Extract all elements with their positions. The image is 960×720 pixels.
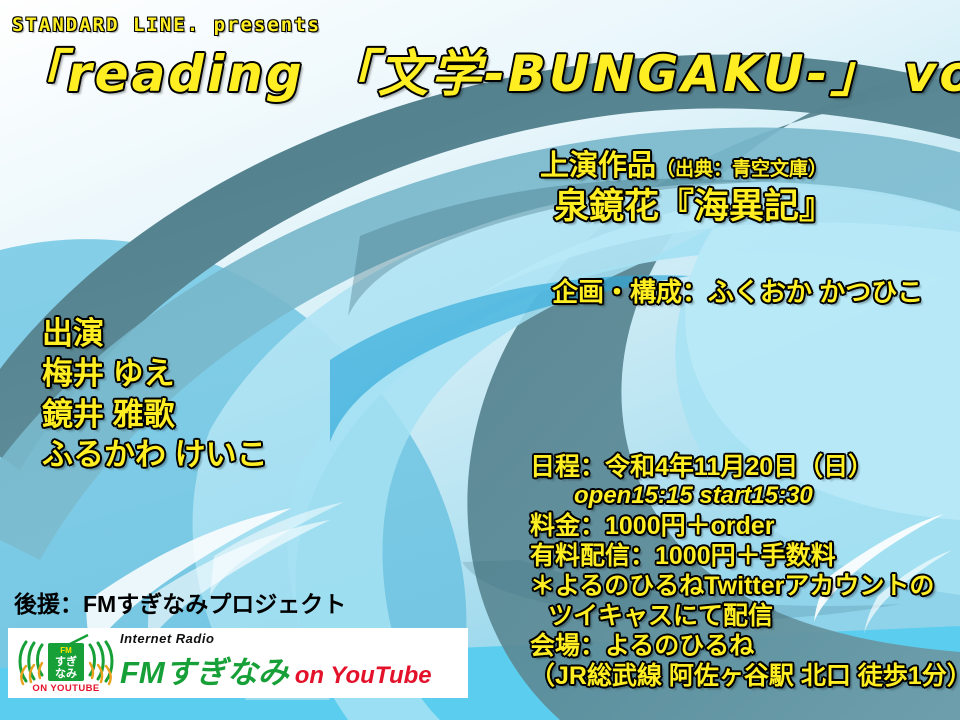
detail-line-price: 料金：1000円＋order — [530, 511, 960, 541]
event-details-block: 日程：令和4年11月20日（日） open15:15 start15:30 料金… — [530, 452, 960, 691]
logo-platform: on YouTube — [295, 662, 432, 689]
sponsor-label: 後援：FMすぎなみプロジェクト — [14, 585, 346, 619]
radio-icon-nami-text: なみ — [55, 667, 77, 680]
work-source: （出典：青空文庫） — [656, 159, 827, 180]
detail-line-date: 日程：令和4年11月20日（日） — [530, 452, 960, 482]
radio-icon-caption: ON YOUTUBE — [32, 683, 99, 693]
detail-line-times: open15:15 start15:30 — [574, 482, 960, 511]
poster-canvas: STANDARD LINE. presents 「reading 「文学-BUN… — [0, 0, 960, 720]
cast-member: 梅井 ゆえ — [42, 354, 268, 394]
detail-line-streaming-price: 有料配信：1000円＋手数料 — [530, 541, 960, 571]
radio-icon-sugi-text: すぎ — [55, 654, 77, 668]
detail-line-access: （JR総武線 阿佐ヶ谷駅 北口 徒歩1分） — [530, 661, 960, 691]
cast-member: ふるかわ けいこ — [42, 435, 268, 475]
cast-block: 出演 梅井 ゆえ 鏡井 雅歌 ふるかわ けいこ — [42, 314, 268, 475]
detail-line-venue: 会場：よるのひるね — [530, 631, 960, 661]
page-title: 「reading 「文学-BUNGAKU-」 vol、88」 — [14, 48, 948, 101]
work-heading-row: 上演作品（出典：青空文庫） — [540, 150, 960, 183]
cast-member: 鏡井 雅歌 — [42, 395, 268, 435]
radio-icon-fm-text: FM — [60, 646, 72, 655]
fm-suginami-radio-icon: FM すぎ なみ ON YOUTUBE — [16, 633, 116, 693]
logo-name: FMすぎなみ — [120, 655, 289, 690]
logo-text-block: Internet Radio FMすぎなみon YouTube — [120, 632, 432, 692]
detail-line-stream-note-2: ツイキャスにて配信 — [548, 601, 960, 631]
cast-heading: 出演 — [42, 314, 268, 354]
logo-name-row: FMすぎなみon YouTube — [120, 647, 432, 692]
planning-credit: 企画・構成：ふくおか かつひこ — [552, 272, 923, 309]
detail-line-stream-note-1: ＊よるのひるねTwitterアカウントの — [530, 571, 960, 601]
work-title: 泉鏡花『海異記』 — [554, 186, 960, 228]
work-block: 上演作品（出典：青空文庫） 泉鏡花『海異記』 — [540, 150, 960, 228]
logo-tagline: Internet Radio — [120, 632, 432, 646]
work-heading: 上演作品 — [540, 150, 656, 182]
presenter-label: STANDARD LINE. presents — [12, 14, 321, 36]
fm-suginami-logo: FM すぎ なみ ON YOUTUBE Internet Radio FMすぎな… — [8, 628, 468, 698]
